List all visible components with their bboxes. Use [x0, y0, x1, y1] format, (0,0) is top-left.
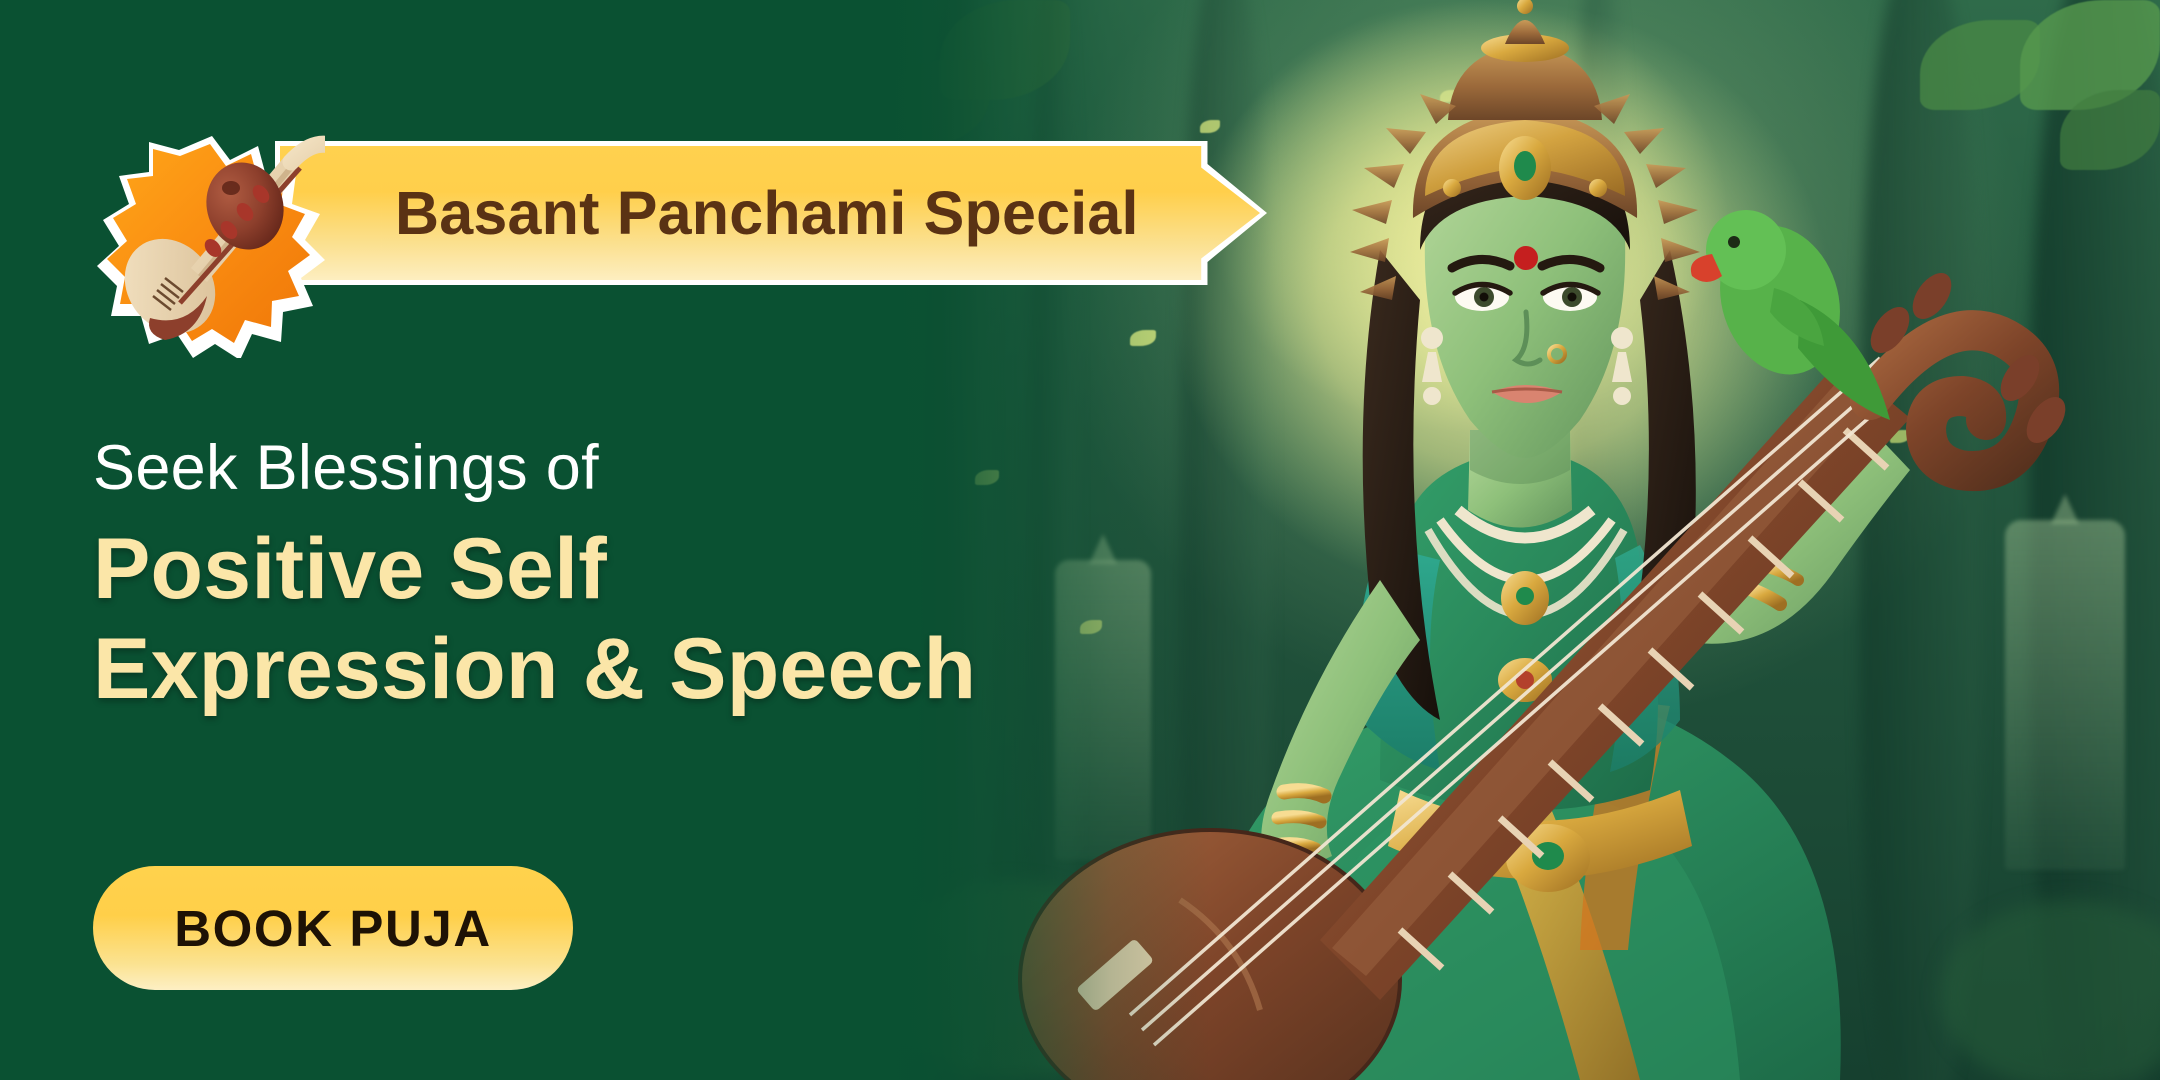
- basant-panchami-promo-banner: Basant Panchami Special: [0, 0, 2160, 1080]
- badge-label: Basant Panchami Special: [395, 146, 1139, 280]
- headline: Positive Self Expression & Speech: [93, 520, 976, 720]
- veena-starburst-icon: [95, 128, 325, 358]
- headline-line-1: Positive Self: [93, 520, 976, 620]
- content-panel: Basant Panchami Special: [0, 0, 1180, 1080]
- kicker-text: Seek Blessings of: [93, 432, 599, 504]
- headline-line-2: Expression & Speech: [93, 620, 976, 720]
- book-puja-button[interactable]: BOOK PUJA: [93, 866, 573, 990]
